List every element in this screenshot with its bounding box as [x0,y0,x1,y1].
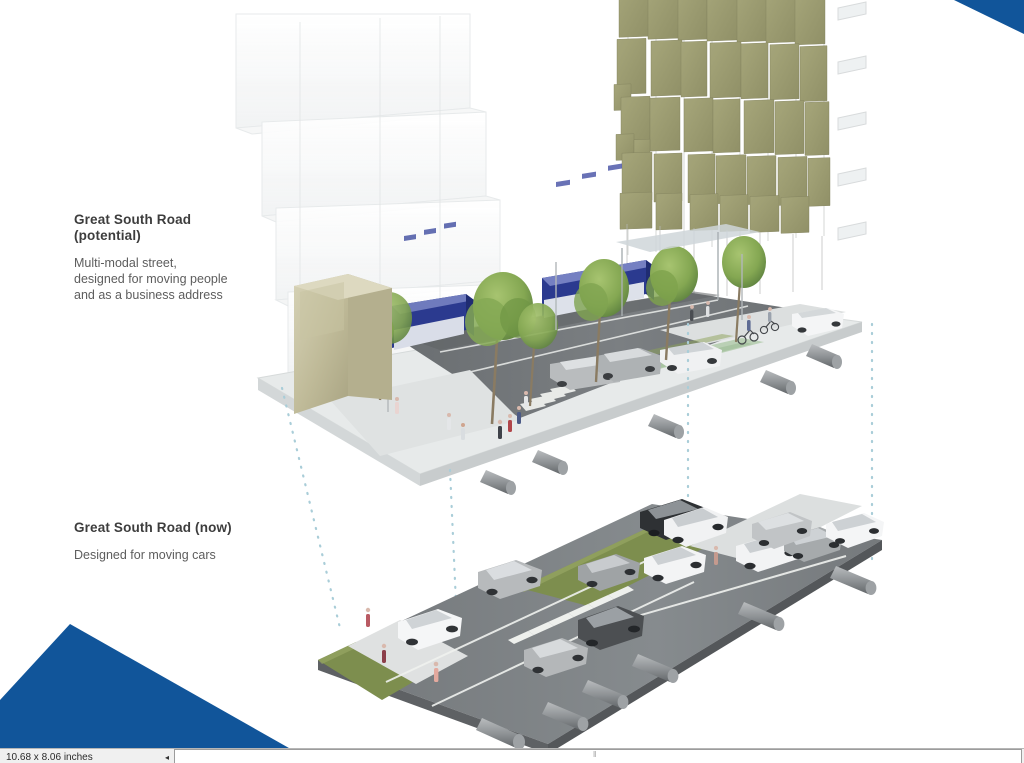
status-progress-field[interactable]: ‖ [174,749,1022,763]
pedestrian-figure [382,644,386,663]
caption-potential: Great South Road (potential) Multi-modal… [74,212,284,303]
pedestrian-figure [706,301,710,317]
caption-now-body: Designed for moving cars [74,547,289,563]
pedestrian-figure [524,391,528,407]
architectural-diagram [0,0,1024,763]
pedestrian-figure [366,608,370,627]
pedestrian-figure [714,546,718,565]
pedestrian-figure [517,406,521,424]
caption-now-title: Great South Road (now) [74,520,289,536]
status-bar: 10.68 x 8.06 inches ◂ ‖ [0,748,1024,763]
pedestrian-figure [447,413,451,430]
pedestrian-figure [690,305,694,321]
pedestrian-figure [498,420,502,439]
caption-potential-body: Multi-modal street, designed for moving … [74,255,284,303]
lower-street-plane [318,494,884,754]
pedestrian-figure [508,414,512,432]
caption-now: Great South Road (now) Designed for movi… [74,520,289,563]
grip-handle-icon[interactable]: ‖ [593,752,603,758]
caption-potential-title: Great South Road (potential) [74,212,284,244]
presentation-slide: Great South Road (potential) Multi-modal… [0,0,1024,763]
pedestrian-figure [434,662,439,682]
podium-building [294,274,392,414]
pedestrian-figure [395,397,399,414]
document-dimensions-readout: 10.68 x 8.06 inches [0,749,160,763]
chevron-left-icon[interactable]: ◂ [160,749,174,763]
pedestrian-figure [461,423,465,440]
